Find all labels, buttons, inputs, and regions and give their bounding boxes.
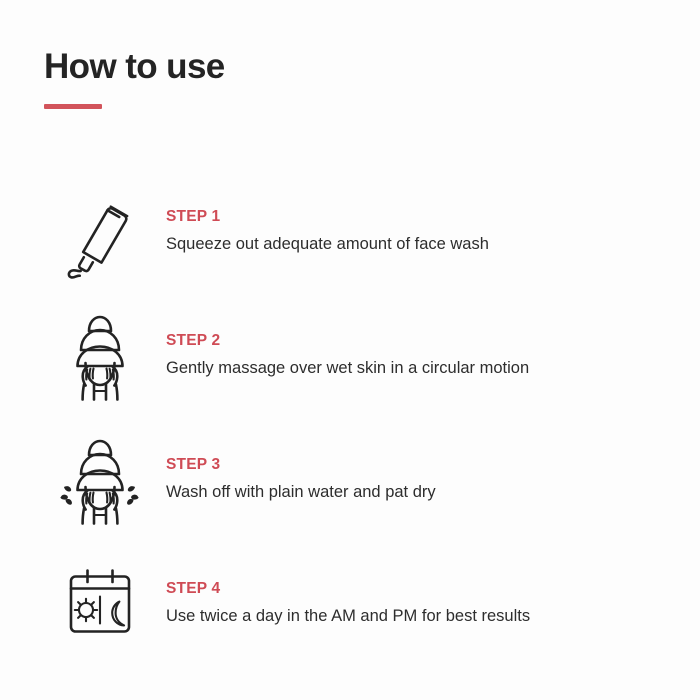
step-description: Use twice a day in the AM and PM for bes… <box>166 606 700 627</box>
page-title: How to use <box>44 48 604 87</box>
step-item: STEP 3 Wash off with plain water and pat… <box>0 418 700 542</box>
step-label: STEP 2 <box>166 332 700 351</box>
step-item: STEP 1 Squeeze out adequate amount of fa… <box>0 170 700 294</box>
step-item: STEP 2 Gently massage over wet skin in a… <box>0 294 700 418</box>
step-text: STEP 1 Squeeze out adequate amount of fa… <box>156 208 700 255</box>
step-label: STEP 4 <box>166 580 700 599</box>
title-underline-accent <box>44 104 102 109</box>
face-wash-tube-icon <box>44 189 156 275</box>
step-label: STEP 3 <box>166 456 700 475</box>
header: How to use <box>44 48 604 109</box>
step-text: STEP 2 Gently massage over wet skin in a… <box>156 332 700 379</box>
step-description: Squeeze out adequate amount of face wash <box>166 234 700 255</box>
how-to-use-page: How to use STEP 1 Sq <box>0 0 700 700</box>
step-text: STEP 4 Use twice a day in the AM and PM … <box>156 580 700 627</box>
step-label: STEP 1 <box>166 208 700 227</box>
step-item: STEP 4 Use twice a day in the AM and PM … <box>0 542 700 666</box>
step-description: Gently massage over wet skin in a circul… <box>166 358 700 379</box>
step-description: Wash off with plain water and pat dry <box>166 482 700 503</box>
rinse-face-splash-icon <box>44 434 156 526</box>
calendar-sun-moon-icon <box>44 565 156 643</box>
massage-face-icon <box>44 310 156 402</box>
step-text: STEP 3 Wash off with plain water and pat… <box>156 456 700 503</box>
steps-list: STEP 1 Squeeze out adequate amount of fa… <box>0 170 700 666</box>
